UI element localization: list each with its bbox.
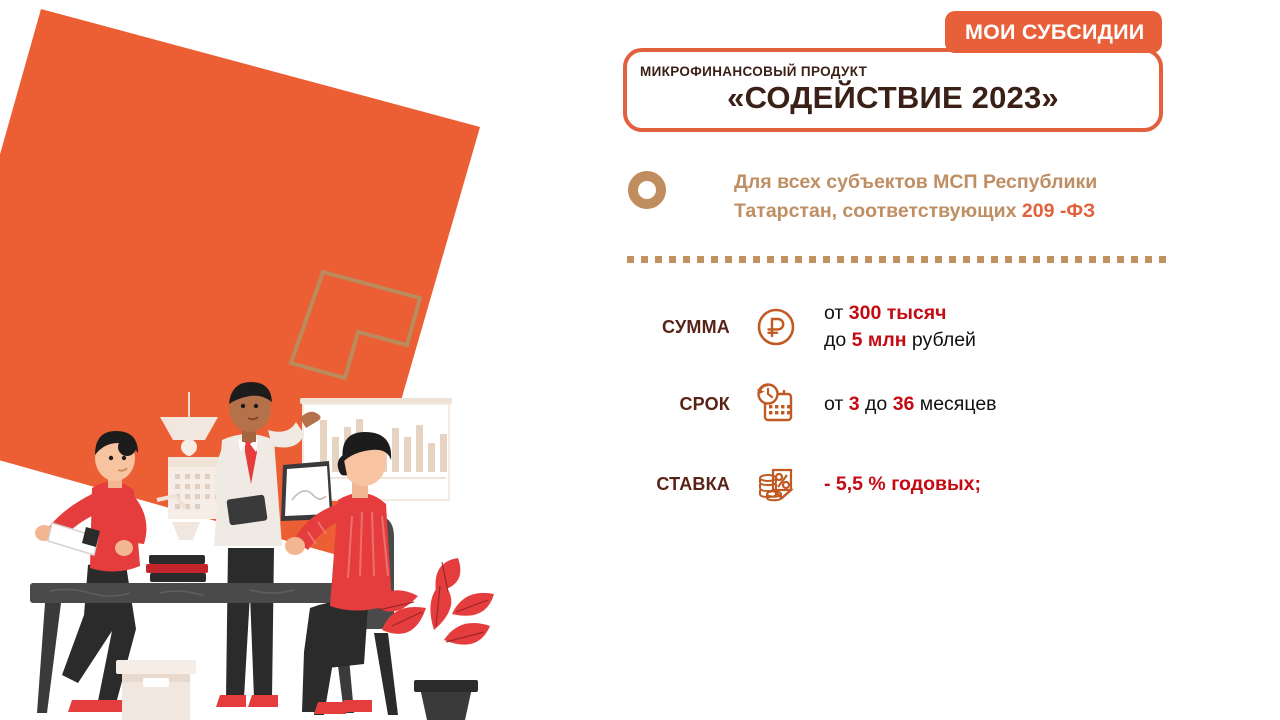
term-min-value: 3 (849, 393, 860, 415)
storage-boxes (116, 660, 196, 720)
amount-min-value: 300 тысяч (849, 302, 947, 324)
my-subsidies-badge-label: МОИ СУБСИДИИ (965, 20, 1144, 45)
product-kicker: МИКРОФИНАНСОВЫЙ ПРОДУКТ (640, 64, 867, 79)
eligibility-block: Для всех субъектов МСП Республики Татарс… (620, 163, 1180, 226)
office-team-illustration (0, 0, 520, 720)
ring-bullet-icon (628, 171, 666, 209)
product-title: «СОДЕЙСТВИЕ 2023» (627, 80, 1159, 116)
calendar-clock-icon (744, 381, 808, 427)
spec-label-term: СРОК (620, 394, 730, 415)
amount-line1-prefix: от (824, 302, 849, 324)
slide-root: МОИ СУБСИДИИ МИКРОФИНАНСОВЫЙ ПРОДУКТ «СО… (0, 0, 1280, 720)
eligibility-line2-prefix: Татарстан, соответствующих (734, 200, 1022, 222)
eligibility-line1: Для всех субъектов МСП Республики (734, 171, 1097, 193)
book-stack (146, 555, 208, 582)
amount-max-value: 5 млн (852, 329, 907, 351)
spec-row-term: СРОК (620, 380, 1180, 428)
ruble-circle-icon (744, 305, 808, 349)
amount-line2-prefix: до (824, 329, 852, 351)
spec-label-amount: СУММА (620, 317, 730, 338)
spec-value-amount: от 300 тысяч до 5 млн рублей (824, 300, 976, 354)
dotted-divider (627, 256, 1167, 263)
term-max-value: 36 (893, 393, 915, 415)
eligibility-text: Для всех субъектов МСП Республики Татарс… (734, 168, 1097, 226)
my-subsidies-badge[interactable]: МОИ СУБСИДИИ (945, 11, 1162, 53)
spec-row-rate: СТАВКА (620, 460, 1180, 508)
percent-coins-icon (744, 461, 808, 507)
product-info-panel: МОИ СУБСИДИИ МИКРОФИНАНСОВЫЙ ПРОДУКТ «СО… (620, 0, 1280, 720)
spec-value-rate: - 5,5 % годовых; (824, 471, 981, 498)
term-suffix: месяцев (914, 393, 996, 415)
term-mid: до (860, 393, 893, 415)
amount-line2-suffix: рублей (907, 329, 976, 351)
spec-label-rate: СТАВКА (620, 474, 730, 495)
eligibility-law-highlight: 209 -ФЗ (1022, 200, 1095, 222)
term-prefix: от (824, 393, 849, 415)
spec-row-amount: СУММА от 300 тысяч до 5 млн рублей (620, 296, 1180, 358)
product-title-box: МИКРОФИНАНСОВЫЙ ПРОДУКТ «СОДЕЙСТВИЕ 2023… (623, 48, 1163, 132)
spec-value-term: от 3 до 36 месяцев (824, 391, 997, 418)
